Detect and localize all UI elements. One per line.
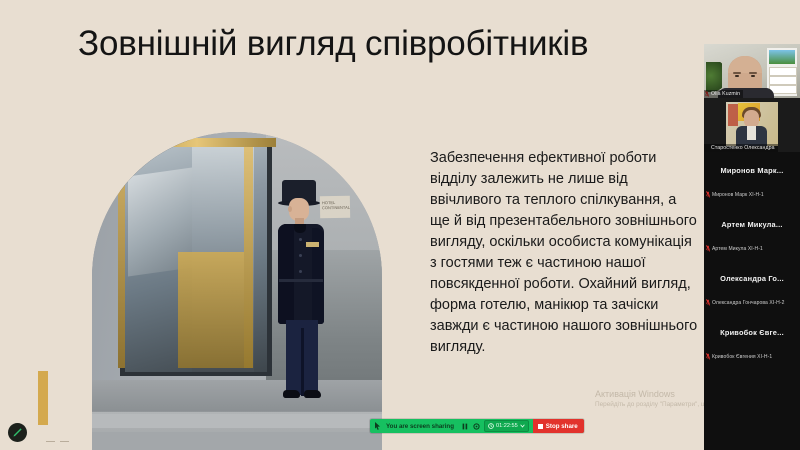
share-cursor-icon — [370, 422, 384, 430]
chevron-down-icon — [520, 424, 525, 428]
tile-1-wall-chart — [767, 48, 797, 96]
photo-gold-left-rail — [118, 138, 125, 368]
video-tile-2-name: Старостенко Олександра — [704, 144, 778, 152]
rail-top-spacer — [704, 0, 800, 44]
share-pause-icon[interactable] — [460, 423, 471, 430]
participant-row-3-subtitle: Олександра Гончарова XI-H-2 — [712, 300, 784, 306]
tile-1-chart-row-2 — [769, 76, 797, 85]
doorman-ear — [288, 206, 292, 212]
tile-2-shirt — [747, 126, 756, 140]
coat-button-2 — [299, 254, 302, 257]
photo-gold-top-rail — [118, 138, 276, 147]
slide-control-prev[interactable] — [46, 436, 55, 442]
slide-title: Зовнішній вигляд співробітників — [78, 22, 698, 66]
participant-rail: Olia Kuzmin Старостенко Олександра Мирон… — [704, 0, 800, 450]
tile-1-chart-row-1 — [769, 67, 797, 76]
doorman-shoe-right — [304, 390, 321, 398]
microphone-muted-icon — [706, 353, 710, 360]
stop-square-icon — [538, 424, 543, 429]
hotel-plaque-text: HOTEL CONTINENTAL — [320, 196, 350, 215]
participant-row-4-title: Кривобок Євге... — [704, 328, 800, 337]
participant-row-2-subtitle: Артем Микула XI-H-1 — [712, 246, 763, 252]
photo-gold-right-rail — [244, 138, 253, 368]
participant-row-1-title: Миронов Марк... — [704, 166, 800, 175]
slide-body-text: Забезпечення ефективної роботи відділу з… — [430, 148, 698, 358]
photo-revolving-door-gold — [178, 252, 248, 368]
participant-row-1-subtitle: Миронов Марк XI-H-1 — [712, 192, 764, 198]
participant-row-2[interactable]: Артем Микула... Артем Микула XI-H-1 — [704, 206, 800, 260]
coat-button-3 — [299, 270, 302, 273]
doorman-leg-split — [301, 328, 304, 396]
participant-row-3[interactable]: Олександра Го... Олександра Гончарова XI… — [704, 260, 800, 314]
coat-button-1 — [299, 238, 302, 241]
screen-share-toolbar: You are screen sharing 01:22:55 — [370, 419, 584, 433]
participant-row-1[interactable]: Миронов Марк... Миронов Марк XI-H-1 — [704, 152, 800, 206]
microphone-muted-icon — [706, 299, 710, 306]
presentation-screen-share-view: Зовнішній вигляд співробітників HOTEL CO… — [0, 0, 800, 450]
participant-row-3-title: Олександра Го... — [704, 274, 800, 283]
video-tile-1-name: Olia Kuzmin — [704, 90, 743, 98]
hotel-plaque: HOTEL CONTINENTAL — [320, 196, 350, 219]
video-tile-1[interactable]: Olia Kuzmin — [704, 44, 800, 98]
doorman-collar — [294, 224, 306, 233]
share-timer[interactable]: 01:22:55 — [484, 420, 529, 432]
tile-1-eye-left — [735, 75, 739, 77]
participant-row-4-subtitle: Кривобок Євгения XI-H-1 — [712, 354, 772, 360]
tile-1-wall-picture — [769, 50, 795, 64]
tile-1-brow-left — [733, 72, 741, 74]
tile-2-wall-art-red — [728, 104, 738, 126]
slide-canvas: Зовнішній вигляд співробітників HOTEL CO… — [0, 0, 800, 450]
microphone-muted-icon — [706, 245, 710, 252]
doorman-photo: HOTEL CONTINENTAL — [92, 132, 382, 450]
doorman-name-badge — [306, 242, 319, 247]
video-tile-2[interactable]: Старостенко Олександра — [704, 98, 800, 152]
tile-1-eye-right — [751, 75, 755, 77]
photo-step-1 — [92, 414, 382, 428]
participant-row-4[interactable]: Кривобок Євге... Кривобок Євгения XI-H-1 — [704, 314, 800, 368]
tile-1-brow-right — [749, 72, 757, 74]
photo-step-2 — [92, 432, 382, 450]
clock-icon — [488, 423, 494, 429]
share-status-text: You are screen sharing — [384, 423, 460, 430]
doorman-belt — [279, 279, 323, 282]
annotation-pen-icon[interactable] — [8, 423, 27, 442]
microphone-muted-icon — [706, 191, 710, 198]
slide-control-next[interactable] — [60, 436, 69, 442]
stop-share-button[interactable]: Stop share — [533, 419, 584, 433]
stop-share-label: Stop share — [546, 423, 578, 430]
share-settings-gear-icon[interactable] — [471, 423, 482, 430]
doorman-coat-shadow — [278, 224, 294, 324]
participant-row-2-title: Артем Микула... — [704, 220, 800, 229]
doorman-shoe-left — [283, 390, 300, 398]
accent-bar-vertical — [38, 371, 48, 425]
share-timer-text: 01:22:55 — [496, 423, 518, 429]
